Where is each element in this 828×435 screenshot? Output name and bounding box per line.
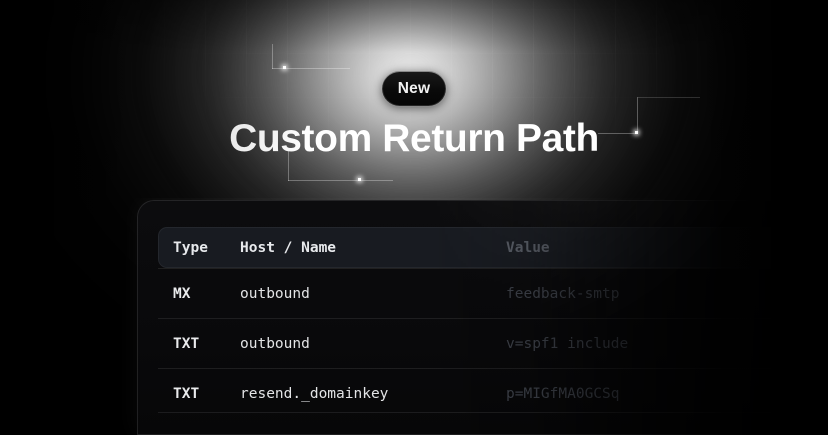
table-row[interactable]: TXT outbound v=spf1 include <box>158 318 818 368</box>
column-header-value: Value <box>506 240 818 256</box>
page-title: Custom Return Path <box>0 116 828 162</box>
cell-value: feedback-smtp <box>506 286 818 302</box>
dns-records-table: Type Host / Name Value MX outbound feedb… <box>158 227 818 418</box>
new-badge: New <box>382 71 446 106</box>
dns-records-card: Type Host / Name Value MX outbound feedb… <box>137 200 828 435</box>
cell-host: resend._domainkey <box>240 386 506 402</box>
cell-host: outbound <box>240 286 506 302</box>
hero-banner: New Custom Return Path Type Host / Name … <box>0 0 828 435</box>
table-row[interactable]: MX outbound feedback-smtp <box>158 268 818 318</box>
cell-type: MX <box>158 286 240 302</box>
cell-type: TXT <box>158 336 240 352</box>
table-row[interactable]: TXT resend._domainkey p=MIGfMA0GCSq <box>158 368 818 418</box>
cell-type: TXT <box>158 386 240 402</box>
column-header-host: Host / Name <box>240 240 506 256</box>
cell-value: v=spf1 include <box>506 336 818 352</box>
cell-host: outbound <box>240 336 506 352</box>
table-bottom-divider <box>158 412 818 413</box>
new-badge-label: New <box>398 81 430 97</box>
cell-value: p=MIGfMA0GCSq <box>506 386 818 402</box>
column-header-type: Type <box>158 240 240 256</box>
table-header-row: Type Host / Name Value <box>158 227 818 268</box>
